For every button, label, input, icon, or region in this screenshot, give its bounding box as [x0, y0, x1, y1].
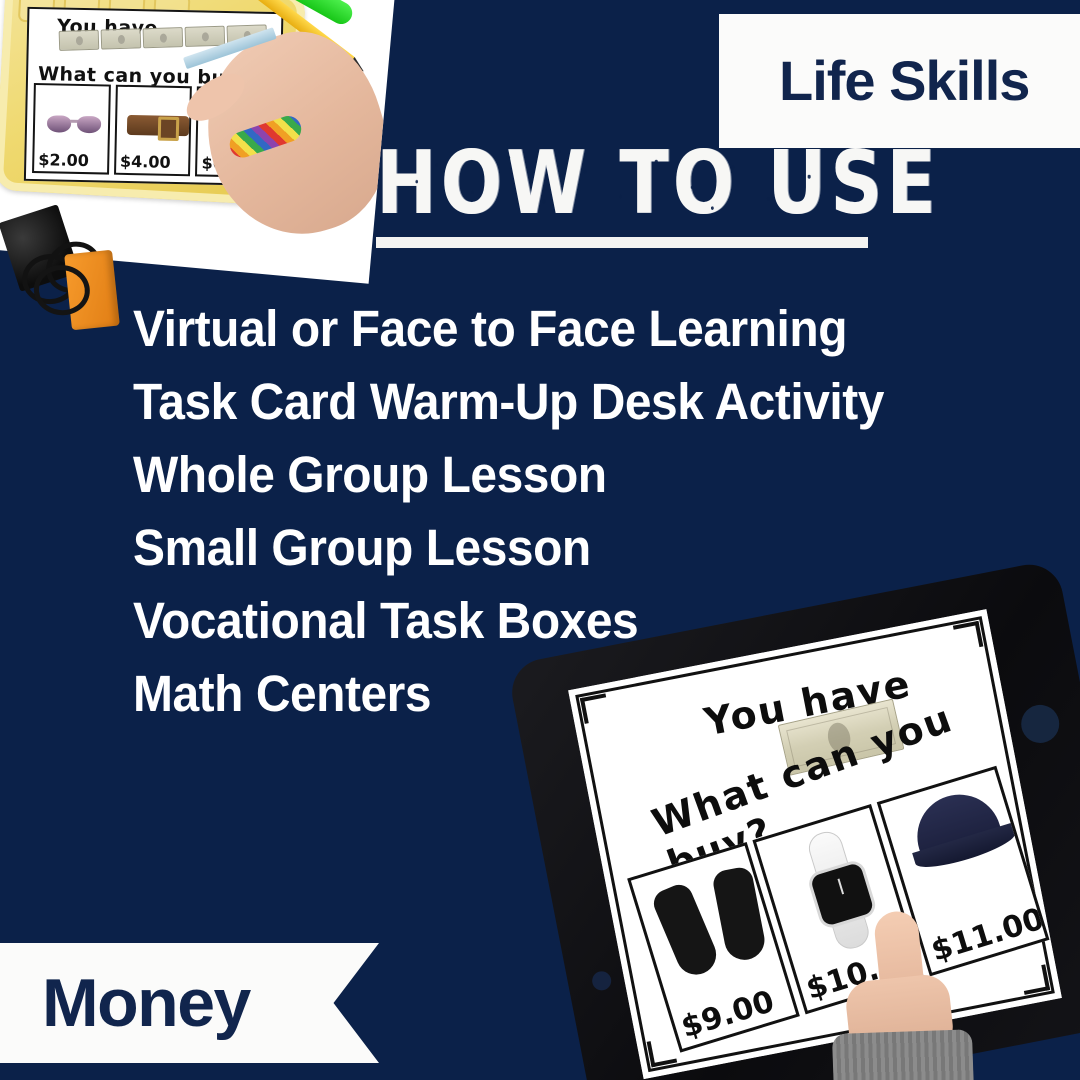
digital-task-card: You have What can you buy? $9.00 $10.00: [568, 609, 1062, 1079]
banner-life-skills-label: Life Skills: [779, 53, 1029, 109]
list-item: Small Group Lesson: [133, 511, 941, 584]
card-corner-mark: [953, 621, 983, 651]
card-corner-mark: [1020, 964, 1050, 994]
gray-sweater-sleeve: [832, 1029, 975, 1080]
card-corner-mark: [647, 1037, 677, 1067]
sunglasses-icon: [47, 115, 101, 136]
page-title: HOW TO USE: [376, 142, 896, 212]
choice-price: $2.00: [38, 150, 89, 170]
page-title-underline: [376, 237, 868, 248]
card-corner-mark: [580, 693, 610, 723]
tablet-screen: You have What can you buy? $9.00 $10.00: [568, 609, 1062, 1079]
gloves-icon: [653, 864, 773, 984]
choice-cell-belt: $4.00: [114, 85, 193, 177]
banner-money: Money: [0, 943, 379, 1063]
belt-icon: [127, 115, 189, 136]
list-item: Task Card Warm-Up Desk Activity: [133, 365, 941, 438]
banner-life-skills: Life Skills: [719, 14, 1080, 148]
poster-canvas: You have What can you buy? $2.00 $4.00: [0, 0, 1080, 1080]
baseball-cap-icon: [900, 781, 1020, 878]
orange-binder-clip: [64, 250, 120, 331]
list-item: Whole Group Lesson: [133, 438, 941, 511]
choice-cell-sunglasses: $2.00: [32, 83, 111, 175]
choice-price: $4.00: [120, 152, 171, 172]
banner-money-label: Money: [42, 969, 250, 1037]
list-item: Virtual or Face to Face Learning: [133, 292, 941, 365]
pointing-hand: [827, 906, 965, 1080]
page-title-text: HOW TO USE: [376, 142, 886, 225]
